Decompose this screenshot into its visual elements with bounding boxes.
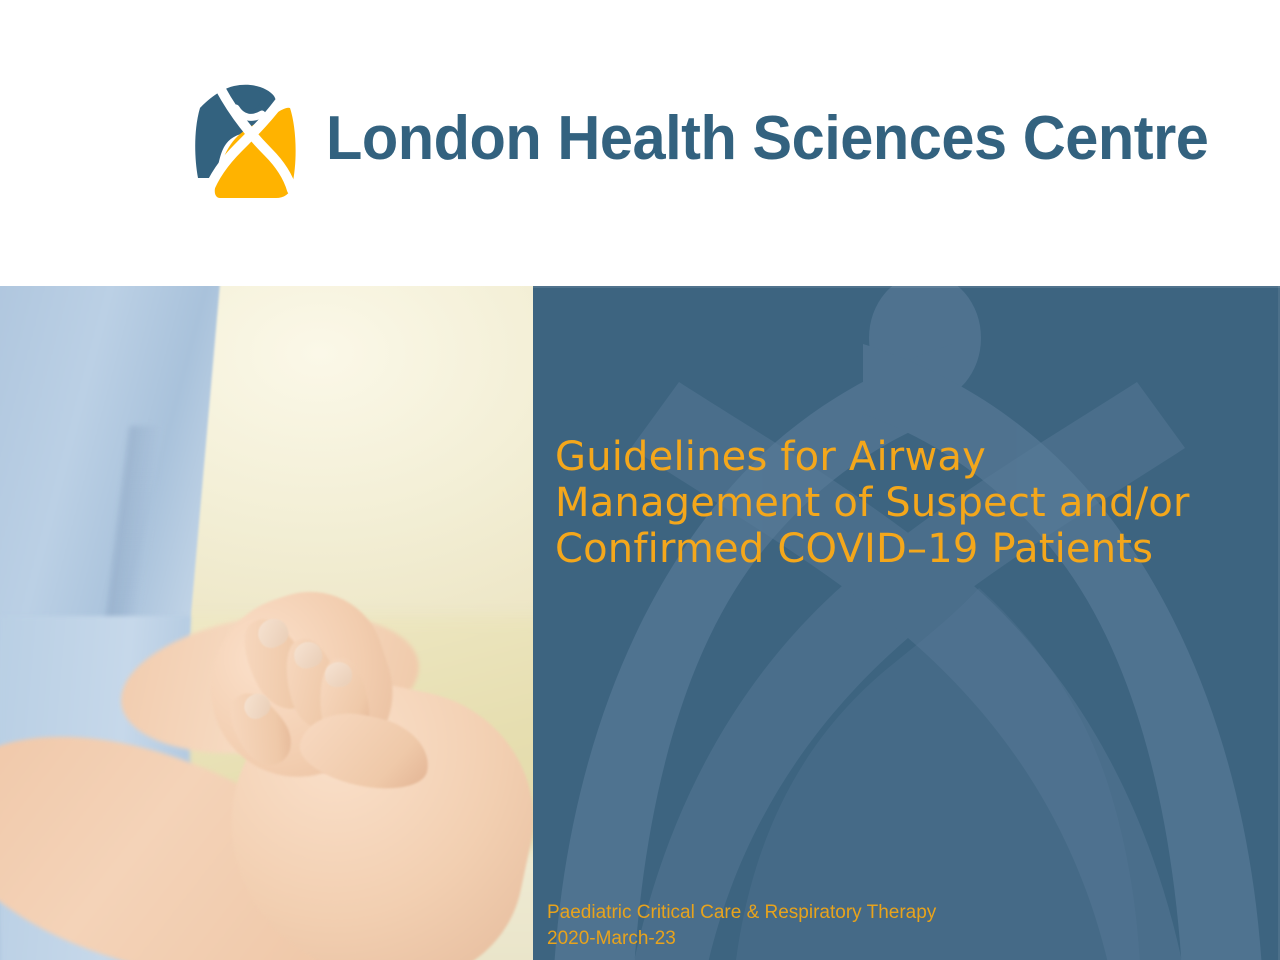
brand-logo-lockup: London Health Sciences Centre [186,74,1245,204]
title-line-2: Management of Suspect and/or [555,480,1255,526]
presentation-title-slide: London Health Sciences Centre [0,0,1280,960]
brand-wordmark: London Health Sciences Centre [326,108,1208,170]
lhsc-logo-watermark-icon [533,286,1280,960]
title-line-3: Confirmed COVID–19 Patients [555,526,1255,572]
title-panel: Guidelines for Airway Management of Susp… [533,286,1280,960]
panel-top-hairline [533,286,1280,288]
slide-body: Guidelines for Airway Management of Susp… [0,286,1280,960]
title-line-1: Guidelines for Airway [555,434,1255,480]
photo-fingernail [324,661,353,688]
slide-title: Guidelines for Airway Management of Susp… [555,434,1255,572]
footer-date: 2020-March-23 [547,926,1247,952]
header-band: London Health Sciences Centre [0,0,1280,286]
slide-footer: Paediatric Critical Care & Respiratory T… [547,900,1247,952]
footer-department: Paediatric Critical Care & Respiratory T… [547,900,1247,926]
title-photo [0,286,533,960]
lhsc-figure-ribbon-logo-icon [186,74,304,204]
